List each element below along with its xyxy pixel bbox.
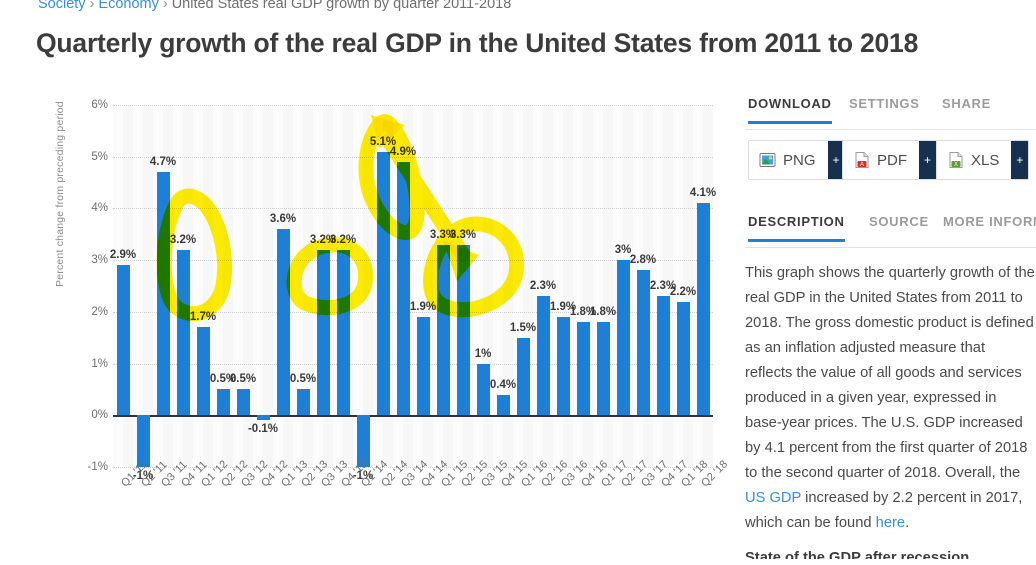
bar[interactable] xyxy=(257,415,270,420)
breadcrumb-separator-1: › xyxy=(90,0,95,12)
bar-value-label: 1.8% xyxy=(590,306,616,318)
bar[interactable] xyxy=(137,415,150,467)
bar-value-label: 3% xyxy=(615,244,632,256)
pdf-file-icon: A xyxy=(853,151,870,169)
y-axis-tick: 0% xyxy=(74,409,108,421)
bar-value-label: 0.4% xyxy=(490,379,516,391)
bar-value-label: 1.7% xyxy=(190,311,216,323)
svg-text:A: A xyxy=(860,162,864,168)
image-file-icon xyxy=(759,151,776,169)
bar[interactable] xyxy=(337,250,350,415)
bar[interactable] xyxy=(437,245,450,416)
bar-value-label: 3.2% xyxy=(170,234,196,246)
breadcrumb-item-economy[interactable]: Economy xyxy=(98,0,158,12)
bar[interactable] xyxy=(617,260,630,415)
bar-value-label: 1% xyxy=(475,348,492,360)
excel-file-icon: X xyxy=(947,151,964,169)
download-xls-options[interactable]: + xyxy=(1011,141,1028,179)
bar-value-label: -0.1% xyxy=(248,423,278,435)
bar[interactable] xyxy=(517,338,530,416)
bar-value-label: 3.3% xyxy=(450,229,476,241)
bar-value-label: 0.5% xyxy=(230,373,256,385)
bar-value-label: 0.5% xyxy=(290,373,316,385)
bar[interactable] xyxy=(397,162,410,415)
y-axis-tick: 4% xyxy=(74,202,108,214)
bar-value-label: 4.7% xyxy=(150,156,176,168)
info-tab-row: DESCRIPTION SOURCE MORE INFORMATION xyxy=(745,214,1036,248)
svg-text:X: X xyxy=(954,162,958,168)
download-pdf-options[interactable]: + xyxy=(919,141,936,179)
bar-value-label: 1.5% xyxy=(510,322,536,334)
download-xls-button[interactable]: X XLS + xyxy=(936,140,1029,180)
bar[interactable] xyxy=(177,250,190,415)
bar[interactable] xyxy=(197,327,210,415)
bar[interactable] xyxy=(677,302,690,416)
gridline xyxy=(113,208,713,209)
gridline xyxy=(113,105,713,106)
bar[interactable] xyxy=(577,322,590,415)
y-axis-tick: 3% xyxy=(74,254,108,266)
bar[interactable] xyxy=(457,245,470,416)
side-panel: DOWNLOAD SETTINGS SHARE PNG xyxy=(745,96,1036,559)
bar[interactable] xyxy=(697,203,710,415)
bar[interactable] xyxy=(297,389,310,415)
bar-value-label: 4.1% xyxy=(690,187,716,199)
y-axis-tick: 1% xyxy=(74,358,108,370)
description-paragraph: This graph shows the quarterly growth of… xyxy=(745,261,1036,536)
y-axis-tick: 6% xyxy=(74,99,108,111)
bar-value-label: 1.9% xyxy=(410,301,436,313)
y-axis-ticks: -1%0%1%2%3%4%5%6% xyxy=(74,92,108,482)
y-axis-tick: 2% xyxy=(74,306,108,318)
download-png-button[interactable]: PNG + xyxy=(748,140,846,180)
y-axis-tick: 5% xyxy=(74,151,108,163)
bar[interactable] xyxy=(417,317,430,415)
bar[interactable] xyxy=(657,296,670,415)
bar-value-label: 3.2% xyxy=(330,234,356,246)
bar[interactable] xyxy=(217,389,230,415)
bar-value-label: 3.6% xyxy=(270,213,296,225)
breadcrumb-item-society[interactable]: Society xyxy=(38,0,86,12)
bar[interactable] xyxy=(637,270,650,415)
description-subheading: State of the GDP after recession xyxy=(745,550,1036,559)
bar[interactable] xyxy=(497,395,510,416)
zero-axis-line xyxy=(113,415,713,417)
here-link[interactable]: here xyxy=(876,515,905,531)
bar[interactable] xyxy=(277,229,290,415)
description-text-3: . xyxy=(905,515,909,531)
download-pdf-button[interactable]: A PDF + xyxy=(842,140,937,180)
tab-source[interactable]: SOURCE xyxy=(869,214,929,239)
tab-download[interactable]: DOWNLOAD xyxy=(748,96,832,124)
breadcrumb-separator-2: › xyxy=(163,0,168,12)
bar[interactable] xyxy=(317,250,330,415)
y-axis-tick: -1% xyxy=(74,461,108,473)
bar[interactable] xyxy=(237,389,250,415)
bar[interactable] xyxy=(377,152,390,416)
bar[interactable] xyxy=(477,364,490,416)
x-axis-labels: Q1 '11Q2 '11Q3 '11Q4 '11Q1 '12Q2 '12Q3 '… xyxy=(113,475,713,565)
bar[interactable] xyxy=(597,322,610,415)
download-button-row: PNG + A PDF + xyxy=(745,140,1036,198)
bar-value-label: 2.3% xyxy=(530,280,556,292)
action-tab-row: DOWNLOAD SETTINGS SHARE xyxy=(745,96,1036,130)
bar[interactable] xyxy=(157,172,170,415)
chart-panel: Percent change from preceding period -1%… xyxy=(0,92,725,562)
tab-settings[interactable]: SETTINGS xyxy=(849,96,920,121)
download-xls-label: XLS xyxy=(971,152,999,169)
bar-value-label: 2.8% xyxy=(630,254,656,266)
tab-share[interactable]: SHARE xyxy=(942,96,991,121)
download-png-label: PNG xyxy=(783,152,816,169)
bar[interactable] xyxy=(537,296,550,415)
page-title: Quarterly growth of the real GDP in the … xyxy=(36,28,918,59)
us-gdp-link[interactable]: US GDP xyxy=(745,490,801,506)
bar[interactable] xyxy=(557,317,570,415)
breadcrumb-item-current: United States real GDP growth by quarter… xyxy=(172,0,512,12)
tab-more-information[interactable]: MORE INFORMATION xyxy=(943,214,1036,239)
tab-description[interactable]: DESCRIPTION xyxy=(748,214,845,242)
bar[interactable] xyxy=(117,265,130,415)
description-text-1: This graph shows the quarterly growth of… xyxy=(745,265,1035,481)
download-pdf-label: PDF xyxy=(877,152,907,169)
breadcrumb: Society›Economy›United States real GDP g… xyxy=(38,0,511,12)
bar-value-label: 4.9% xyxy=(390,146,416,158)
y-axis-label: Percent change from preceding period xyxy=(54,107,66,287)
bar-value-label: 2.9% xyxy=(110,249,136,261)
plot-area: 2.9%-1%4.7%3.2%1.7%0.5%0.5%-0.1%3.6%0.5%… xyxy=(113,105,713,467)
bar-value-label: 2.2% xyxy=(670,286,696,298)
